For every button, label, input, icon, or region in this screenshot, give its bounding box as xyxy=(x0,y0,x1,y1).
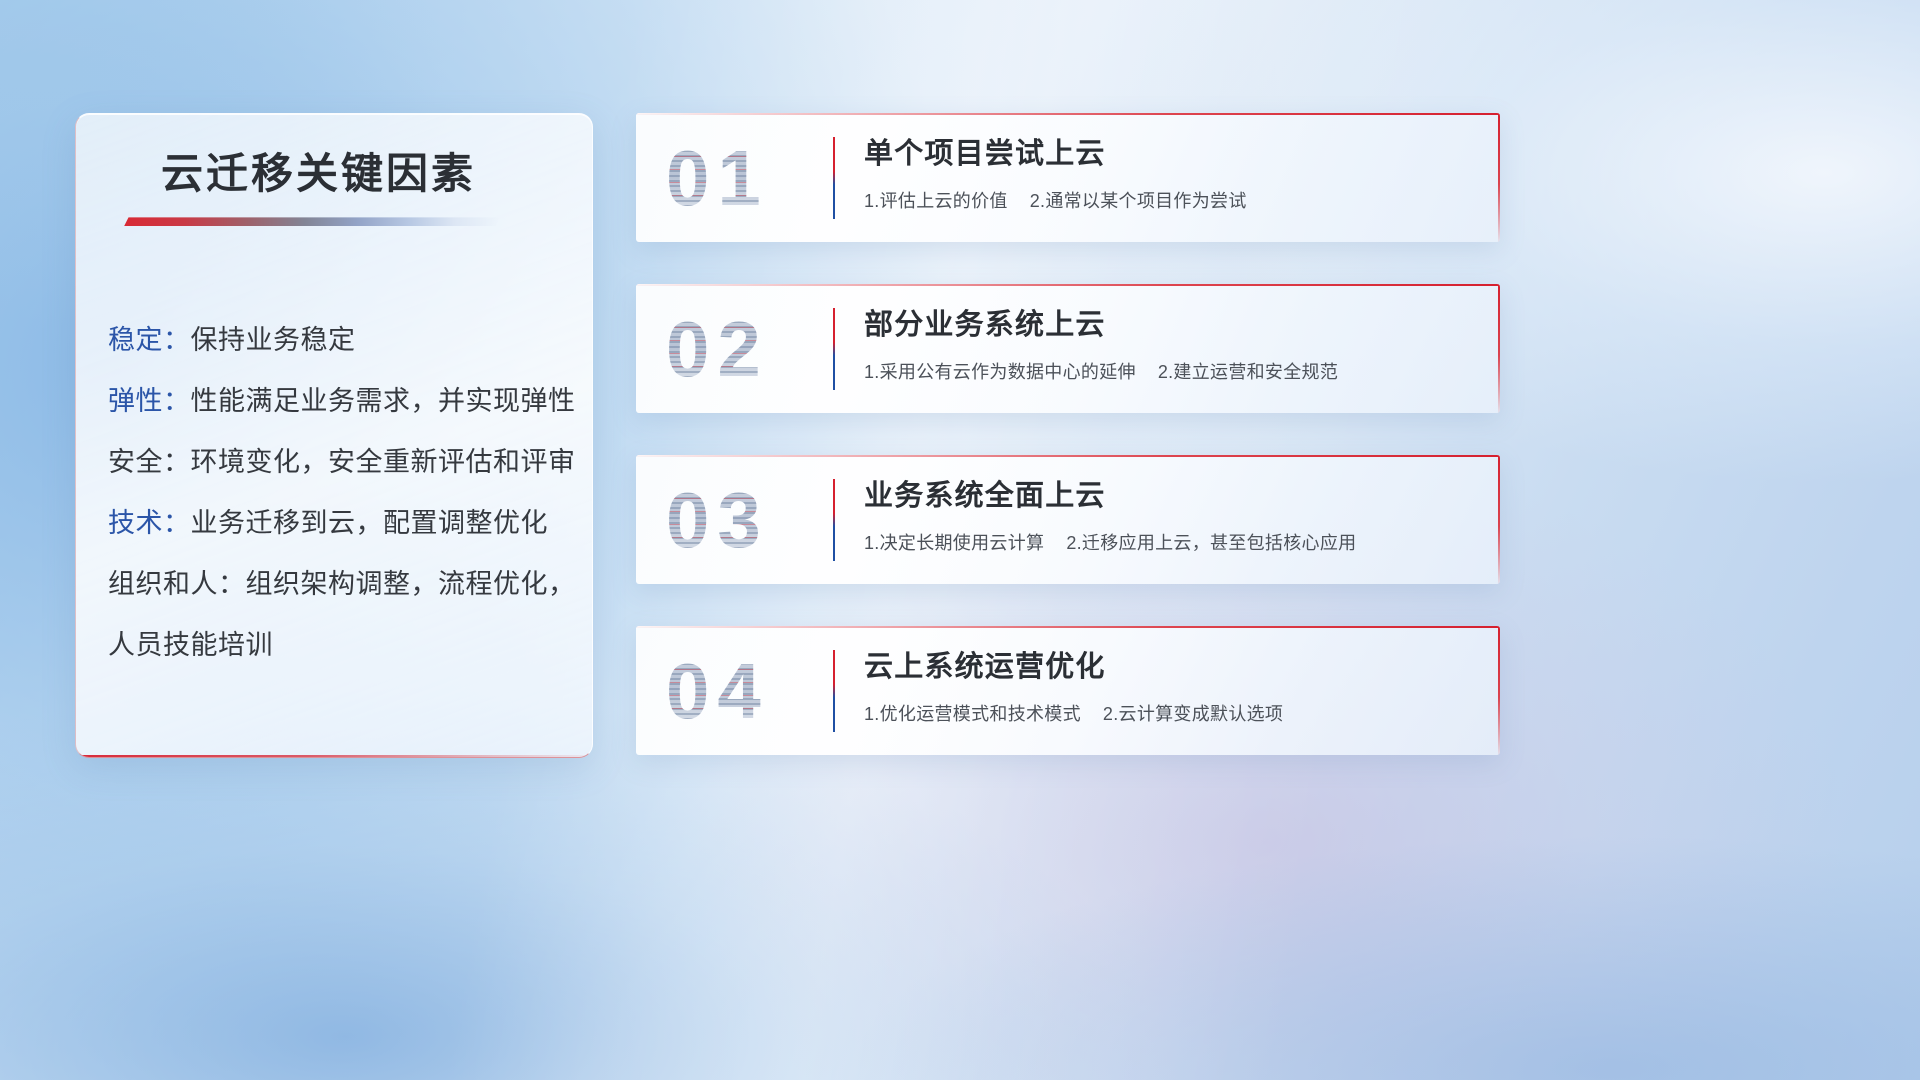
stage-number-scanline-overlay: 04 xyxy=(666,643,816,739)
stage-card-title: 单个项目尝试上云 xyxy=(864,134,1480,174)
stage-card-title: 云上系统运营优化 xyxy=(864,647,1480,687)
list-item-text: 保持业务稳定 xyxy=(191,325,356,355)
stage-card-title: 业务系统全面上云 xyxy=(864,476,1480,516)
list-item: 稳定：保持业务稳定 xyxy=(108,310,556,371)
stage-card-title: 部分业务系统上云 xyxy=(864,305,1480,345)
stage-card-body: 云上系统运营优化 1.优化运营模式和技术模式2.云计算变成默认选项 xyxy=(864,647,1480,727)
list-item-text: 性能满足业务需求，并实现弹性 xyxy=(191,386,576,416)
list-item-text: 组织架构调整，流程优化， xyxy=(246,569,576,599)
migration-stage-cards: 01 01 单个项目尝试上云 1.评估上云的价值2.通常以某个项目作为尝试 02… xyxy=(636,113,1500,797)
stage-card-points: 1.采用公有云作为数据中心的延伸2.建立运营和安全规范 xyxy=(864,359,1480,385)
stage-point-2: 2.云计算变成默认选项 xyxy=(1103,704,1283,724)
list-item-text: 业务迁移到云，配置调整优化 xyxy=(191,508,549,538)
list-item: 组织和人：组织架构调整，流程优化， xyxy=(108,554,556,615)
stage-card-points: 1.评估上云的价值2.通常以某个项目作为尝试 xyxy=(864,188,1480,214)
accent-divider xyxy=(833,479,835,561)
stage-number-scanline-overlay: 01 xyxy=(666,130,816,226)
stage-point-1: 1.评估上云的价值 xyxy=(864,191,1008,211)
stage-point-2: 2.通常以某个项目作为尝试 xyxy=(1030,191,1247,211)
stage-card[interactable]: 03 03 业务系统全面上云 1.决定长期使用云计算2.迁移应用上云，甚至包括核… xyxy=(636,455,1500,584)
stage-point-1: 1.采用公有云作为数据中心的延伸 xyxy=(864,362,1136,382)
list-item-key: 技术： xyxy=(108,508,191,538)
accent-divider xyxy=(833,650,835,732)
stage-card-points: 1.决定长期使用云计算2.迁移应用上云，甚至包括核心应用 xyxy=(864,530,1480,556)
page-title: 云迁移关键因素 xyxy=(76,114,592,199)
stage-point-1: 1.优化运营模式和技术模式 xyxy=(864,704,1081,724)
key-factors-panel: 云迁移关键因素 稳定：保持业务稳定 弹性：性能满足业务需求，并实现弹性 安全：环… xyxy=(75,113,593,758)
list-item-text: 人员技能培训 xyxy=(108,630,273,660)
list-item-key: 安全： xyxy=(108,447,191,477)
stage-number-scanline-overlay: 03 xyxy=(666,472,816,568)
stage-number-scanline-overlay: 02 xyxy=(666,301,816,397)
list-item-text: 环境变化，安全重新评估和评审 xyxy=(191,447,576,477)
stage-card-body: 部分业务系统上云 1.采用公有云作为数据中心的延伸2.建立运营和安全规范 xyxy=(864,305,1480,385)
stage-card[interactable]: 01 01 单个项目尝试上云 1.评估上云的价值2.通常以某个项目作为尝试 xyxy=(636,113,1500,242)
list-item: 安全：环境变化，安全重新评估和评审 xyxy=(108,432,556,493)
stage-card-body: 业务系统全面上云 1.决定长期使用云计算2.迁移应用上云，甚至包括核心应用 xyxy=(864,476,1480,556)
list-item: 技术：业务迁移到云，配置调整优化 xyxy=(108,493,556,554)
list-item-key: 稳定： xyxy=(108,325,191,355)
list-item: 人员技能培训 xyxy=(108,615,556,676)
stage-point-2: 2.建立运营和安全规范 xyxy=(1158,362,1338,382)
list-item-key: 组织和人： xyxy=(108,569,246,599)
list-item-key: 弹性： xyxy=(108,386,191,416)
list-item: 弹性：性能满足业务需求，并实现弹性 xyxy=(108,371,556,432)
slide-canvas: 云迁移关键因素 稳定：保持业务稳定 弹性：性能满足业务需求，并实现弹性 安全：环… xyxy=(0,0,1920,1080)
key-factors-list: 稳定：保持业务稳定 弹性：性能满足业务需求，并实现弹性 安全：环境变化，安全重新… xyxy=(76,226,592,676)
stage-point-1: 1.决定长期使用云计算 xyxy=(864,533,1044,553)
stage-card[interactable]: 04 04 云上系统运营优化 1.优化运营模式和技术模式2.云计算变成默认选项 xyxy=(636,626,1500,755)
accent-divider xyxy=(833,137,835,219)
stage-card[interactable]: 02 02 部分业务系统上云 1.采用公有云作为数据中心的延伸2.建立运营和安全… xyxy=(636,284,1500,413)
title-underline-rule xyxy=(124,217,500,226)
stage-point-2: 2.迁移应用上云，甚至包括核心应用 xyxy=(1066,533,1356,553)
stage-card-points: 1.优化运营模式和技术模式2.云计算变成默认选项 xyxy=(864,701,1480,727)
accent-divider xyxy=(833,308,835,390)
stage-card-body: 单个项目尝试上云 1.评估上云的价值2.通常以某个项目作为尝试 xyxy=(864,134,1480,214)
